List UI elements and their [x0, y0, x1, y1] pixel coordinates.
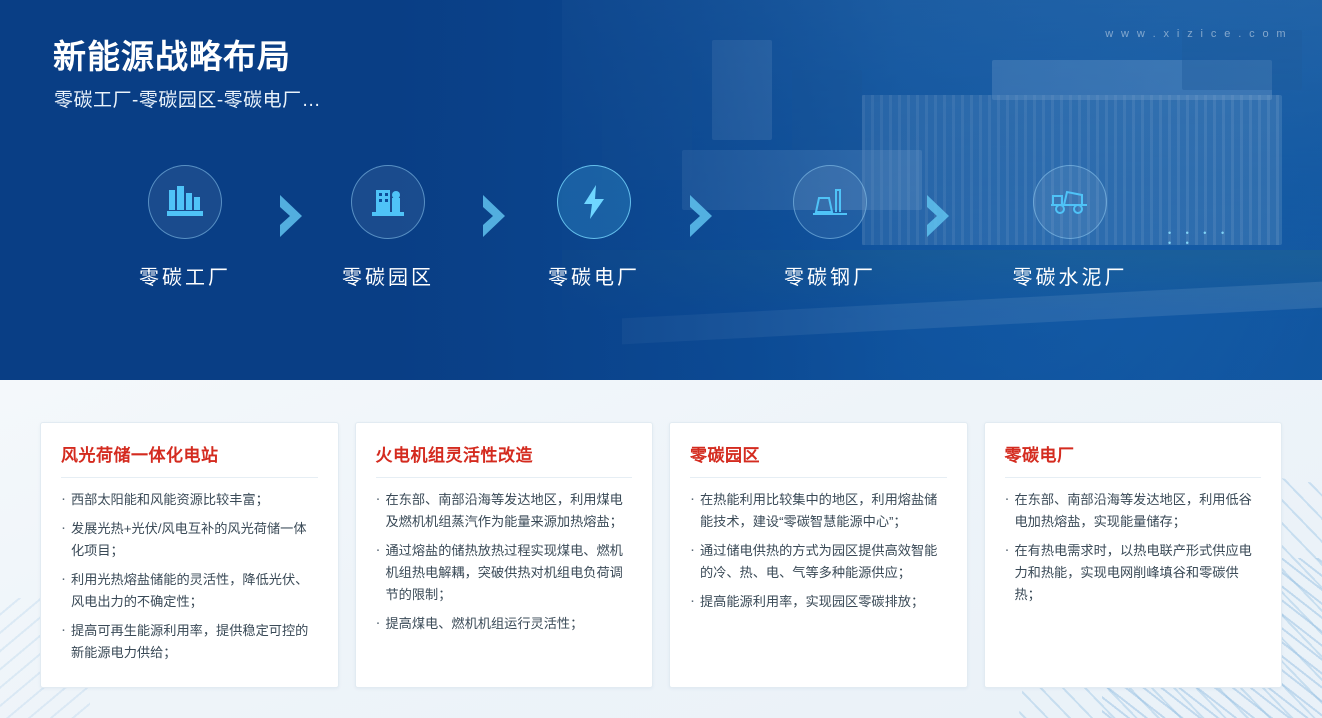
- flow-node-label: 零碳园区: [303, 261, 473, 290]
- steel-plant-icon: [793, 165, 867, 239]
- chevron-right-icon: [481, 195, 507, 237]
- list-item: 在热能利用比较集中的地区，利用熔盐储能技术，建设“零碳智慧能源中心”；: [690, 489, 947, 533]
- flow-node-label: 零碳工厂: [100, 261, 270, 290]
- flow-node-zero-carbon-cement-plant[interactable]: 零碳水泥厂: [985, 165, 1155, 290]
- industrial-park-icon: [351, 165, 425, 239]
- card-bullet-list: 在东部、南部沿海等发达地区，利用煤电及燃机机组蒸汽作为能量来源加热熔盐； 通过熔…: [376, 489, 633, 635]
- flow-node-label: 零碳钢厂: [745, 261, 915, 290]
- card-zero-carbon-park[interactable]: 零碳园区 在热能利用比较集中的地区，利用熔盐储能技术，建设“零碳智慧能源中心”；…: [669, 422, 968, 688]
- list-item: 在有热电需求时，以热电联产形式供应电力和热能，实现电网削峰填谷和零碳供热；: [1005, 540, 1262, 606]
- list-item: 在东部、南部沿海等发达地区，利用煤电及燃机机组蒸汽作为能量来源加热熔盐；: [376, 489, 633, 533]
- factory-icon: [148, 165, 222, 239]
- chevron-right-icon: [688, 195, 714, 237]
- card-title: 零碳园区: [690, 441, 947, 478]
- cement-mixer-truck-icon: [1033, 165, 1107, 239]
- flow-continuation-dots: • • • • • •: [1168, 228, 1238, 248]
- lightning-bolt-icon: [557, 165, 631, 239]
- flow-node-zero-carbon-steel-plant[interactable]: 零碳钢厂: [745, 165, 915, 290]
- card-integrated-station[interactable]: 风光荷储一体化电站 西部太阳能和风能资源比较丰富； 发展光热+光伏/风电互补的风…: [40, 422, 339, 688]
- list-item: 发展光热+光伏/风电互补的风光荷储一体化项目；: [61, 518, 318, 562]
- card-bullet-list: 西部太阳能和风能资源比较丰富； 发展光热+光伏/风电互补的风光荷储一体化项目； …: [61, 489, 318, 664]
- flow-node-label: 零碳水泥厂: [985, 261, 1155, 290]
- flow-node-zero-carbon-factory[interactable]: 零碳工厂: [100, 165, 270, 290]
- page-title: 新能源战略布局: [53, 30, 291, 78]
- list-item: 西部太阳能和风能资源比较丰富；: [61, 489, 318, 511]
- flow-node-zero-carbon-power-plant[interactable]: 零碳电厂: [509, 165, 679, 290]
- site-watermark: w w w . x i z i c e . c o m: [1105, 28, 1288, 40]
- flow-node-label: 零碳电厂: [509, 261, 679, 290]
- page-subtitle: 零碳工厂-零碳园区-零碳电厂…: [54, 85, 321, 112]
- list-item: 通过储电供热的方式为园区提供高效智能的冷、热、电、气等多种能源供应；: [690, 540, 947, 584]
- card-zero-carbon-power-plant[interactable]: 零碳电厂 在东部、南部沿海等发达地区，利用低谷电加热熔盐，实现能量储存； 在有热…: [984, 422, 1283, 688]
- card-bullet-list: 在热能利用比较集中的地区，利用熔盐储能技术，建设“零碳智慧能源中心”； 通过储电…: [690, 489, 947, 613]
- list-item: 提高能源利用率，实现园区零碳排放；: [690, 591, 947, 613]
- hero-banner: w w w . x i z i c e . c o m 新能源战略布局 零碳工厂…: [0, 0, 1322, 380]
- card-title: 火电机组灵活性改造: [376, 441, 633, 478]
- strategy-flow: 零碳工厂 零碳园区: [0, 165, 1322, 310]
- chevron-right-icon: [278, 195, 304, 237]
- chevron-right-icon: [925, 195, 951, 237]
- list-item: 提高煤电、燃机机组运行灵活性；: [376, 613, 633, 635]
- flow-node-zero-carbon-park[interactable]: 零碳园区: [303, 165, 473, 290]
- list-item: 在东部、南部沿海等发达地区，利用低谷电加热熔盐，实现能量储存；: [1005, 489, 1262, 533]
- list-item: 利用光热熔盐储能的灵活性，降低光伏、风电出力的不确定性；: [61, 569, 318, 613]
- card-thermal-unit-flexibility[interactable]: 火电机组灵活性改造 在东部、南部沿海等发达地区，利用煤电及燃机机组蒸汽作为能量来…: [355, 422, 654, 688]
- list-item: 提高可再生能源利用率，提供稳定可控的新能源电力供给；: [61, 620, 318, 664]
- card-title: 风光荷储一体化电站: [61, 441, 318, 478]
- card-bullet-list: 在东部、南部沿海等发达地区，利用低谷电加热熔盐，实现能量储存； 在有热电需求时，…: [1005, 489, 1262, 606]
- list-item: 通过熔盐的储热放热过程实现煤电、燃机机组热电解耦，突破供热对机组电负荷调节的限制…: [376, 540, 633, 606]
- card-title: 零碳电厂: [1005, 441, 1262, 478]
- cards-row: 风光荷储一体化电站 西部太阳能和风能资源比较丰富； 发展光热+光伏/风电互补的风…: [0, 422, 1322, 688]
